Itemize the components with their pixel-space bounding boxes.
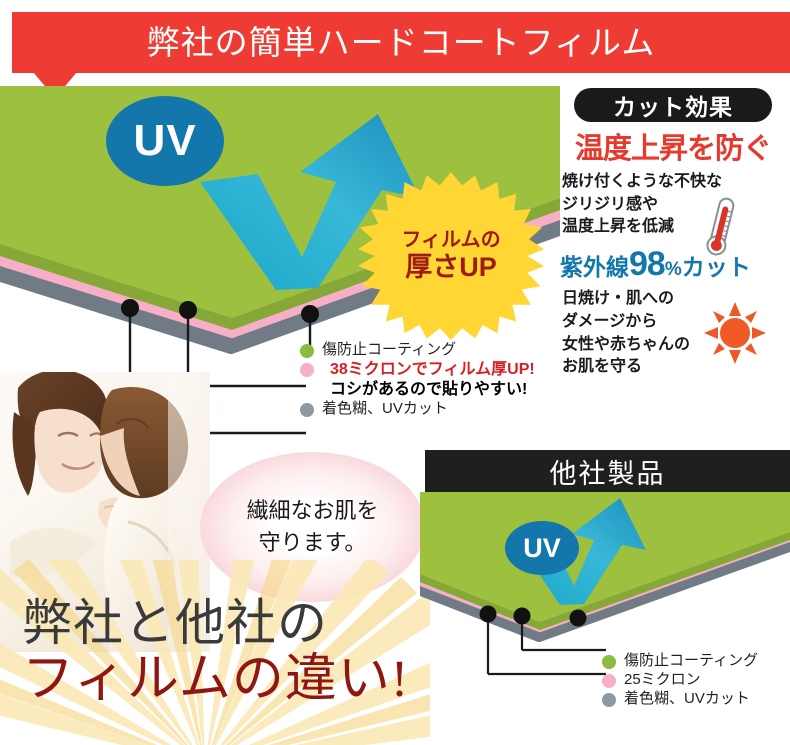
comp-legend-label-coating: 傷防止コーティング [624, 652, 758, 671]
comp-legend-dot-green-icon [602, 655, 616, 669]
sun-icon [704, 302, 766, 364]
competitor-film-illustration [420, 492, 790, 652]
legend-item-coating: 傷防止コーティング [300, 341, 560, 360]
header-banner: 弊社の簡単ハードコートフィルム [12, 12, 790, 73]
bottom-headline: 弊社と他社の フィルムの違い! [22, 598, 422, 706]
legend-label-thickness-sub: コシがあるので貼りやすい! [330, 380, 535, 400]
comp-legend-label-adhesive: 着色糊、UVカット [624, 690, 750, 709]
uv-badge-competitor-label: UV [523, 535, 561, 562]
heat-body-line-2: ジリジリ感や [562, 194, 790, 217]
heat-body-line-3: 温度上昇を低減 [562, 216, 790, 239]
thermometer-icon [702, 194, 740, 260]
bubble-line-2: 守ります。 [259, 527, 367, 559]
legend-label-adhesive: 着色糊、UVカット [322, 400, 448, 419]
cut-effect-badge-label: カット効果 [613, 88, 733, 122]
bubble-line-1: 繊細なお肌を [246, 495, 378, 527]
heat-body: 焼け付くような不快な ジリジリ感や 温度上昇を低減 [556, 171, 790, 239]
competitor-title: 他社製品 [425, 450, 790, 492]
legend-dot-pink-icon [300, 363, 314, 377]
starburst-line2: 厚さUP [405, 253, 497, 281]
uv-cut-prefix: 紫外線 [560, 254, 629, 280]
comp-legend-item-coating: 傷防止コーティング [602, 652, 790, 671]
main-legend: 傷防止コーティング 38ミクロンでフィルム厚UP! コシがあるので貼りやすい! … [300, 341, 560, 419]
starburst-text: フィルムの 厚さUP [358, 172, 544, 340]
legend-dot-gray-icon [300, 403, 314, 417]
uv-badge-main: UV [106, 96, 224, 186]
uv-badge-label: UV [133, 119, 196, 163]
uv-cut-number: 98 [629, 245, 665, 283]
uv-cut-heading: 紫外線98%カット [556, 245, 790, 284]
starburst-line1: フィルムの [401, 230, 500, 251]
comp-legend-dot-gray-icon [602, 693, 616, 707]
uv-badge-competitor: UV [505, 521, 579, 575]
legend-label-thickness: 38ミクロンでフィルム厚UP! [330, 360, 535, 380]
comp-legend-dot-pink-icon [602, 674, 616, 688]
legend-label-thickness-stack: 38ミクロンでフィルム厚UP! コシがあるので貼りやすい! [322, 360, 535, 400]
legend-dot-green-icon [300, 344, 314, 358]
legend-item-adhesive: 着色糊、UVカット [300, 400, 560, 419]
heat-body-line-1: 焼け付くような不快な [562, 171, 790, 194]
competitor-legend: 傷防止コーティング 25ミクロン 着色糊、UVカット [602, 652, 790, 708]
comp-legend-item-adhesive: 着色糊、UVカット [602, 690, 790, 709]
headline-line-2: フィルムの違い! [22, 653, 422, 706]
uv-cut-percent: % [665, 259, 682, 280]
headline-line-1: 弊社と他社の [22, 598, 422, 649]
legend-label-coating: 傷防止コーティング [322, 341, 456, 360]
heat-heading: 温度上昇を防ぐ [556, 125, 790, 167]
competitor-banner: 他社製品 [425, 450, 790, 492]
comp-legend-item-thickness: 25ミクロン [602, 671, 790, 690]
infographic-root: 弊社の簡単ハードコートフィルム [0, 0, 790, 745]
page-title: 弊社の簡単ハードコートフィルム [12, 12, 790, 73]
effects-panel: カット効果 温度上昇を防ぐ 焼け付くような不快な ジリジリ感や 温度上昇を低減 … [556, 88, 790, 379]
thickness-up-starburst: フィルムの 厚さUP [358, 172, 544, 340]
legend-item-thickness: 38ミクロンでフィルム厚UP! コシがあるので貼りやすい! [300, 360, 560, 400]
comp-legend-label-thickness: 25ミクロン [624, 671, 701, 690]
cut-effect-badge: カット効果 [574, 88, 772, 122]
